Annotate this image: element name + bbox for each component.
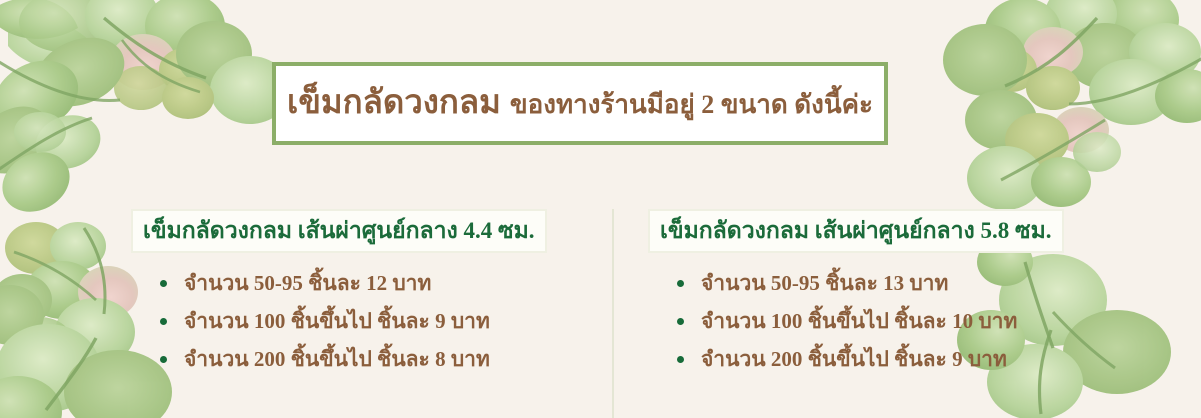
price-item-label: จำนวน 200 ชิ้นขึ้นไป ชิ้นละ 9 บาท xyxy=(701,349,1007,370)
price-column-44cm: เข็มกลัดวงกลม เส้นผ่าศูนย์กลาง 4.4 ซม. จ… xyxy=(0,209,600,418)
promo-banner: เข็มกลัดวงกลม ของทางร้านมีอยู่ 2 ขนาด ดั… xyxy=(0,0,1201,418)
price-item-label: จำนวน 100 ชิ้นขึ้นไป ชิ้นละ 10 บาท xyxy=(701,311,1017,332)
bullet-dot-icon xyxy=(677,318,684,325)
page-title-rest: ของทางร้านมีอยู่ 2 ขนาด ดังนี้ค่ะ xyxy=(510,92,873,118)
price-item-label: จำนวน 200 ชิ้นขึ้นไป ชิ้นละ 8 บาท xyxy=(184,349,490,370)
price-item-label: จำนวน 100 ชิ้นขึ้นไป ชิ้นละ 9 บาท xyxy=(184,311,490,332)
column-heading-44cm: เข็มกลัดวงกลม เส้นผ่าศูนย์กลาง 4.4 ซม. xyxy=(131,209,547,253)
price-item-label: จำนวน 50-95 ชิ้นละ 13 บาท xyxy=(701,273,948,294)
price-column-58cm: เข็มกลัดวงกลม เส้นผ่าศูนย์กลาง 5.8 ซม. จ… xyxy=(600,209,1200,418)
column-heading-58cm: เข็มกลัดวงกลม เส้นผ่าศูนย์กลาง 5.8 ซม. xyxy=(648,209,1064,253)
page-title: เข็มกลัดวงกลม ของทางร้านมีอยู่ 2 ขนาด ดั… xyxy=(287,87,873,120)
list-item: จำนวน 50-95 ชิ้นละ 13 บาท xyxy=(677,264,1200,302)
price-list-44cm: จำนวน 50-95 ชิ้นละ 12 บาท จำนวน 100 ชิ้น… xyxy=(160,264,600,378)
list-item: จำนวน 200 ชิ้นขึ้นไป ชิ้นละ 8 บาท xyxy=(160,340,600,378)
price-item-label: จำนวน 50-95 ชิ้นละ 12 บาท xyxy=(184,273,431,294)
list-item: จำนวน 200 ชิ้นขึ้นไป ชิ้นละ 9 บาท xyxy=(677,340,1200,378)
price-list-58cm: จำนวน 50-95 ชิ้นละ 13 บาท จำนวน 100 ชิ้น… xyxy=(677,264,1200,378)
page-title-highlight: เข็มกลัดวงกลม xyxy=(287,87,501,120)
bullet-dot-icon xyxy=(160,356,167,363)
list-item: จำนวน 100 ชิ้นขึ้นไป ชิ้นละ 9 บาท xyxy=(160,302,600,340)
bullet-dot-icon xyxy=(677,280,684,287)
list-item: จำนวน 100 ชิ้นขึ้นไป ชิ้นละ 10 บาท xyxy=(677,302,1200,340)
header-banner-box: เข็มกลัดวงกลม ของทางร้านมีอยู่ 2 ขนาด ดั… xyxy=(272,62,888,145)
bullet-dot-icon xyxy=(677,356,684,363)
price-columns: เข็มกลัดวงกลม เส้นผ่าศูนย์กลาง 4.4 ซม. จ… xyxy=(0,209,1201,418)
bullet-dot-icon xyxy=(160,318,167,325)
bullet-dot-icon xyxy=(160,280,167,287)
list-item: จำนวน 50-95 ชิ้นละ 12 บาท xyxy=(160,264,600,302)
